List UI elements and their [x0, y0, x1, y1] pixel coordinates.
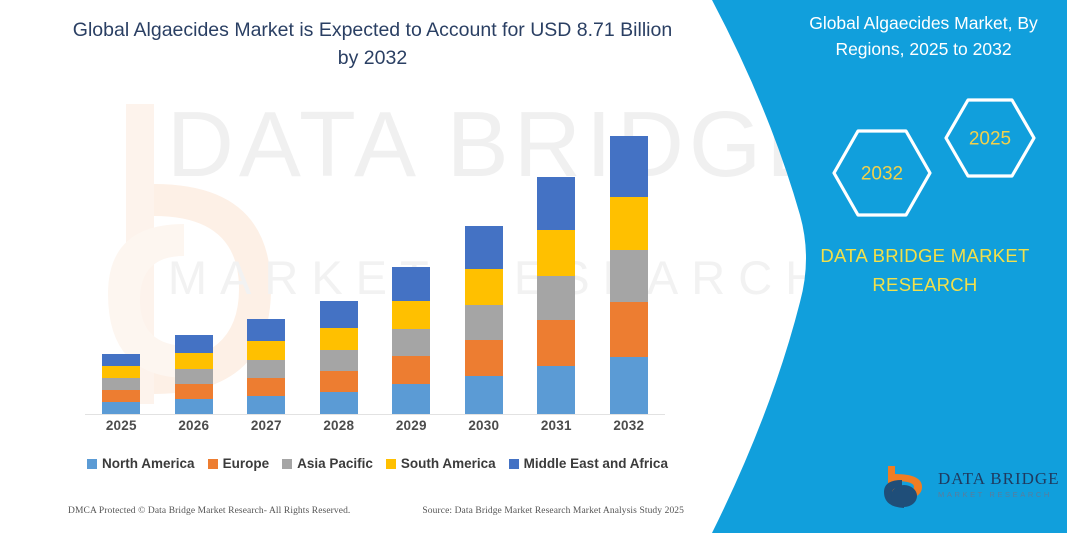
bar-column — [450, 100, 518, 414]
bar-segment[interactable] — [320, 371, 358, 392]
panel-title: Global Algaecides Market, By Regions, 20… — [790, 10, 1057, 63]
hexagon-2032-icon: 2032 — [834, 131, 930, 215]
x-axis-labels: 20252026202720282029203020312032 — [85, 418, 665, 433]
x-axis-tick: 2027 — [232, 418, 300, 433]
x-axis-tick: 2030 — [450, 418, 518, 433]
bar-segment[interactable] — [537, 276, 575, 320]
legend-swatch-icon — [386, 459, 396, 469]
legend-swatch-icon — [87, 459, 97, 469]
bar-segment[interactable] — [392, 267, 430, 301]
x-axis-tick: 2031 — [522, 418, 590, 433]
chart-legend: North AmericaEuropeAsia PacificSouth Ame… — [70, 456, 685, 471]
bar-segment[interactable] — [465, 340, 503, 376]
bar-segment[interactable] — [392, 329, 430, 356]
bar-column — [305, 100, 373, 414]
svg-text:DATA BRIDGE: DATA BRIDGE — [938, 469, 1058, 488]
bar-segment[interactable] — [320, 350, 358, 371]
bar-segment[interactable] — [392, 301, 430, 329]
legend-item-label: Europe — [223, 456, 270, 471]
bar-segment[interactable] — [537, 230, 575, 276]
svg-text:2025: 2025 — [969, 129, 1011, 150]
bar-segment[interactable] — [175, 399, 213, 414]
bar-segment[interactable] — [320, 392, 358, 414]
bar-segment[interactable] — [610, 136, 648, 197]
bar-segment[interactable] — [247, 319, 285, 341]
bar-segment[interactable] — [175, 369, 213, 384]
bar-segment[interactable] — [537, 366, 575, 414]
bar-segment[interactable] — [392, 384, 430, 414]
logo-mark-icon — [884, 466, 922, 508]
bar-segment[interactable] — [610, 302, 648, 357]
bar-segment[interactable] — [610, 250, 648, 302]
bar-segment[interactable] — [610, 357, 648, 414]
bar-stack[interactable] — [247, 319, 285, 414]
legend-item-label: South America — [401, 456, 496, 471]
legend-item[interactable]: South America — [386, 456, 496, 471]
legend-swatch-icon — [282, 459, 292, 469]
legend-item[interactable]: North America — [87, 456, 195, 471]
legend-swatch-icon — [509, 459, 519, 469]
bar-segment[interactable] — [392, 356, 430, 384]
bar-segment[interactable] — [320, 328, 358, 350]
bar-column — [232, 100, 300, 414]
x-axis-tick: 2029 — [377, 418, 445, 433]
bar-stack[interactable] — [465, 226, 503, 414]
legend-item-label: North America — [102, 456, 195, 471]
footer: DMCA Protected © Data Bridge Market Rese… — [68, 506, 688, 516]
legend-item-label: Middle East and Africa — [524, 456, 668, 471]
hexagon-badges: 2025 2032 — [820, 92, 1050, 217]
bar-chart-plot — [85, 100, 665, 415]
bar-stack[interactable] — [102, 354, 140, 414]
bar-segment[interactable] — [247, 396, 285, 414]
bar-segment[interactable] — [320, 301, 358, 328]
bar-stack[interactable] — [175, 335, 213, 414]
x-axis-tick: 2026 — [160, 418, 228, 433]
x-axis-tick: 2025 — [87, 418, 155, 433]
x-axis-tick: 2028 — [305, 418, 373, 433]
bar-stack[interactable] — [320, 301, 358, 414]
bar-segment[interactable] — [102, 354, 140, 366]
brand-line-1: DATA BRIDGE MARKET — [800, 242, 1050, 271]
bar-stack[interactable] — [537, 177, 575, 414]
x-axis-tick: 2032 — [595, 418, 663, 433]
bar-segment[interactable] — [465, 305, 503, 340]
bar-segment[interactable] — [102, 390, 140, 402]
bar-segment[interactable] — [102, 378, 140, 390]
bar-segment[interactable] — [247, 341, 285, 360]
bar-segment[interactable] — [175, 335, 213, 353]
chart-area — [85, 100, 665, 415]
svg-text:2032: 2032 — [861, 164, 903, 185]
bar-column — [595, 100, 663, 414]
bar-segment[interactable] — [537, 177, 575, 230]
bar-segment[interactable] — [247, 378, 285, 396]
data-bridge-logo: DATA BRIDGE MARKET RESEARCH — [882, 462, 1058, 510]
bar-column — [160, 100, 228, 414]
legend-item[interactable]: Europe — [208, 456, 270, 471]
bar-segment[interactable] — [610, 197, 648, 250]
bar-segment[interactable] — [537, 320, 575, 366]
bar-segment[interactable] — [247, 360, 285, 378]
bar-stack[interactable] — [610, 136, 648, 414]
bar-segment[interactable] — [175, 353, 213, 369]
page-title: Global Algaecides Market is Expected to … — [60, 16, 685, 73]
bar-segment[interactable] — [465, 226, 503, 269]
bar-segment[interactable] — [102, 366, 140, 378]
bar-segment[interactable] — [465, 376, 503, 414]
bar-segment[interactable] — [465, 269, 503, 305]
legend-item-label: Asia Pacific — [297, 456, 373, 471]
hexagon-2025-icon: 2025 — [946, 100, 1034, 176]
brand-line-2: RESEARCH — [800, 271, 1050, 300]
bar-stack[interactable] — [392, 267, 430, 414]
svg-text:MARKET RESEARCH: MARKET RESEARCH — [938, 490, 1052, 499]
legend-swatch-icon — [208, 459, 218, 469]
brand-name: DATA BRIDGE MARKET RESEARCH — [800, 242, 1050, 299]
legend-item[interactable]: Asia Pacific — [282, 456, 373, 471]
bar-column — [87, 100, 155, 414]
footer-copyright: DMCA Protected © Data Bridge Market Rese… — [68, 506, 350, 516]
bar-segment[interactable] — [102, 402, 140, 414]
legend-item[interactable]: Middle East and Africa — [509, 456, 668, 471]
footer-source: Source: Data Bridge Market Research Mark… — [422, 506, 688, 516]
bar-column — [522, 100, 590, 414]
infographic-canvas: DATA BRIDGE MARKET RESEARCH Global Algae… — [0, 0, 1067, 533]
bar-segment[interactable] — [175, 384, 213, 399]
bar-column — [377, 100, 445, 414]
